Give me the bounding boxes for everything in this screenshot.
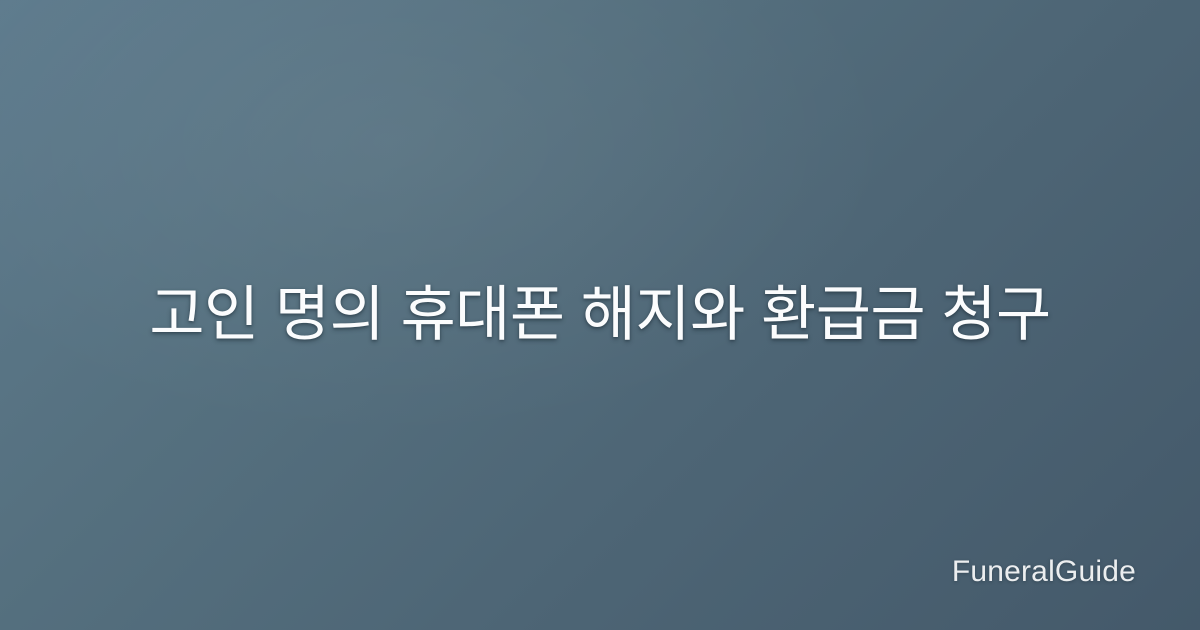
social-share-card: 고인 명의 휴대폰 해지와 환급금 청구 FuneralGuide bbox=[0, 0, 1200, 630]
brand-watermark: FuneralGuide bbox=[952, 557, 1136, 587]
page-title: 고인 명의 휴대폰 해지와 환급금 청구 bbox=[64, 275, 1136, 354]
hero-title-container: 고인 명의 휴대폰 해지와 환급금 청구 bbox=[0, 0, 1200, 630]
